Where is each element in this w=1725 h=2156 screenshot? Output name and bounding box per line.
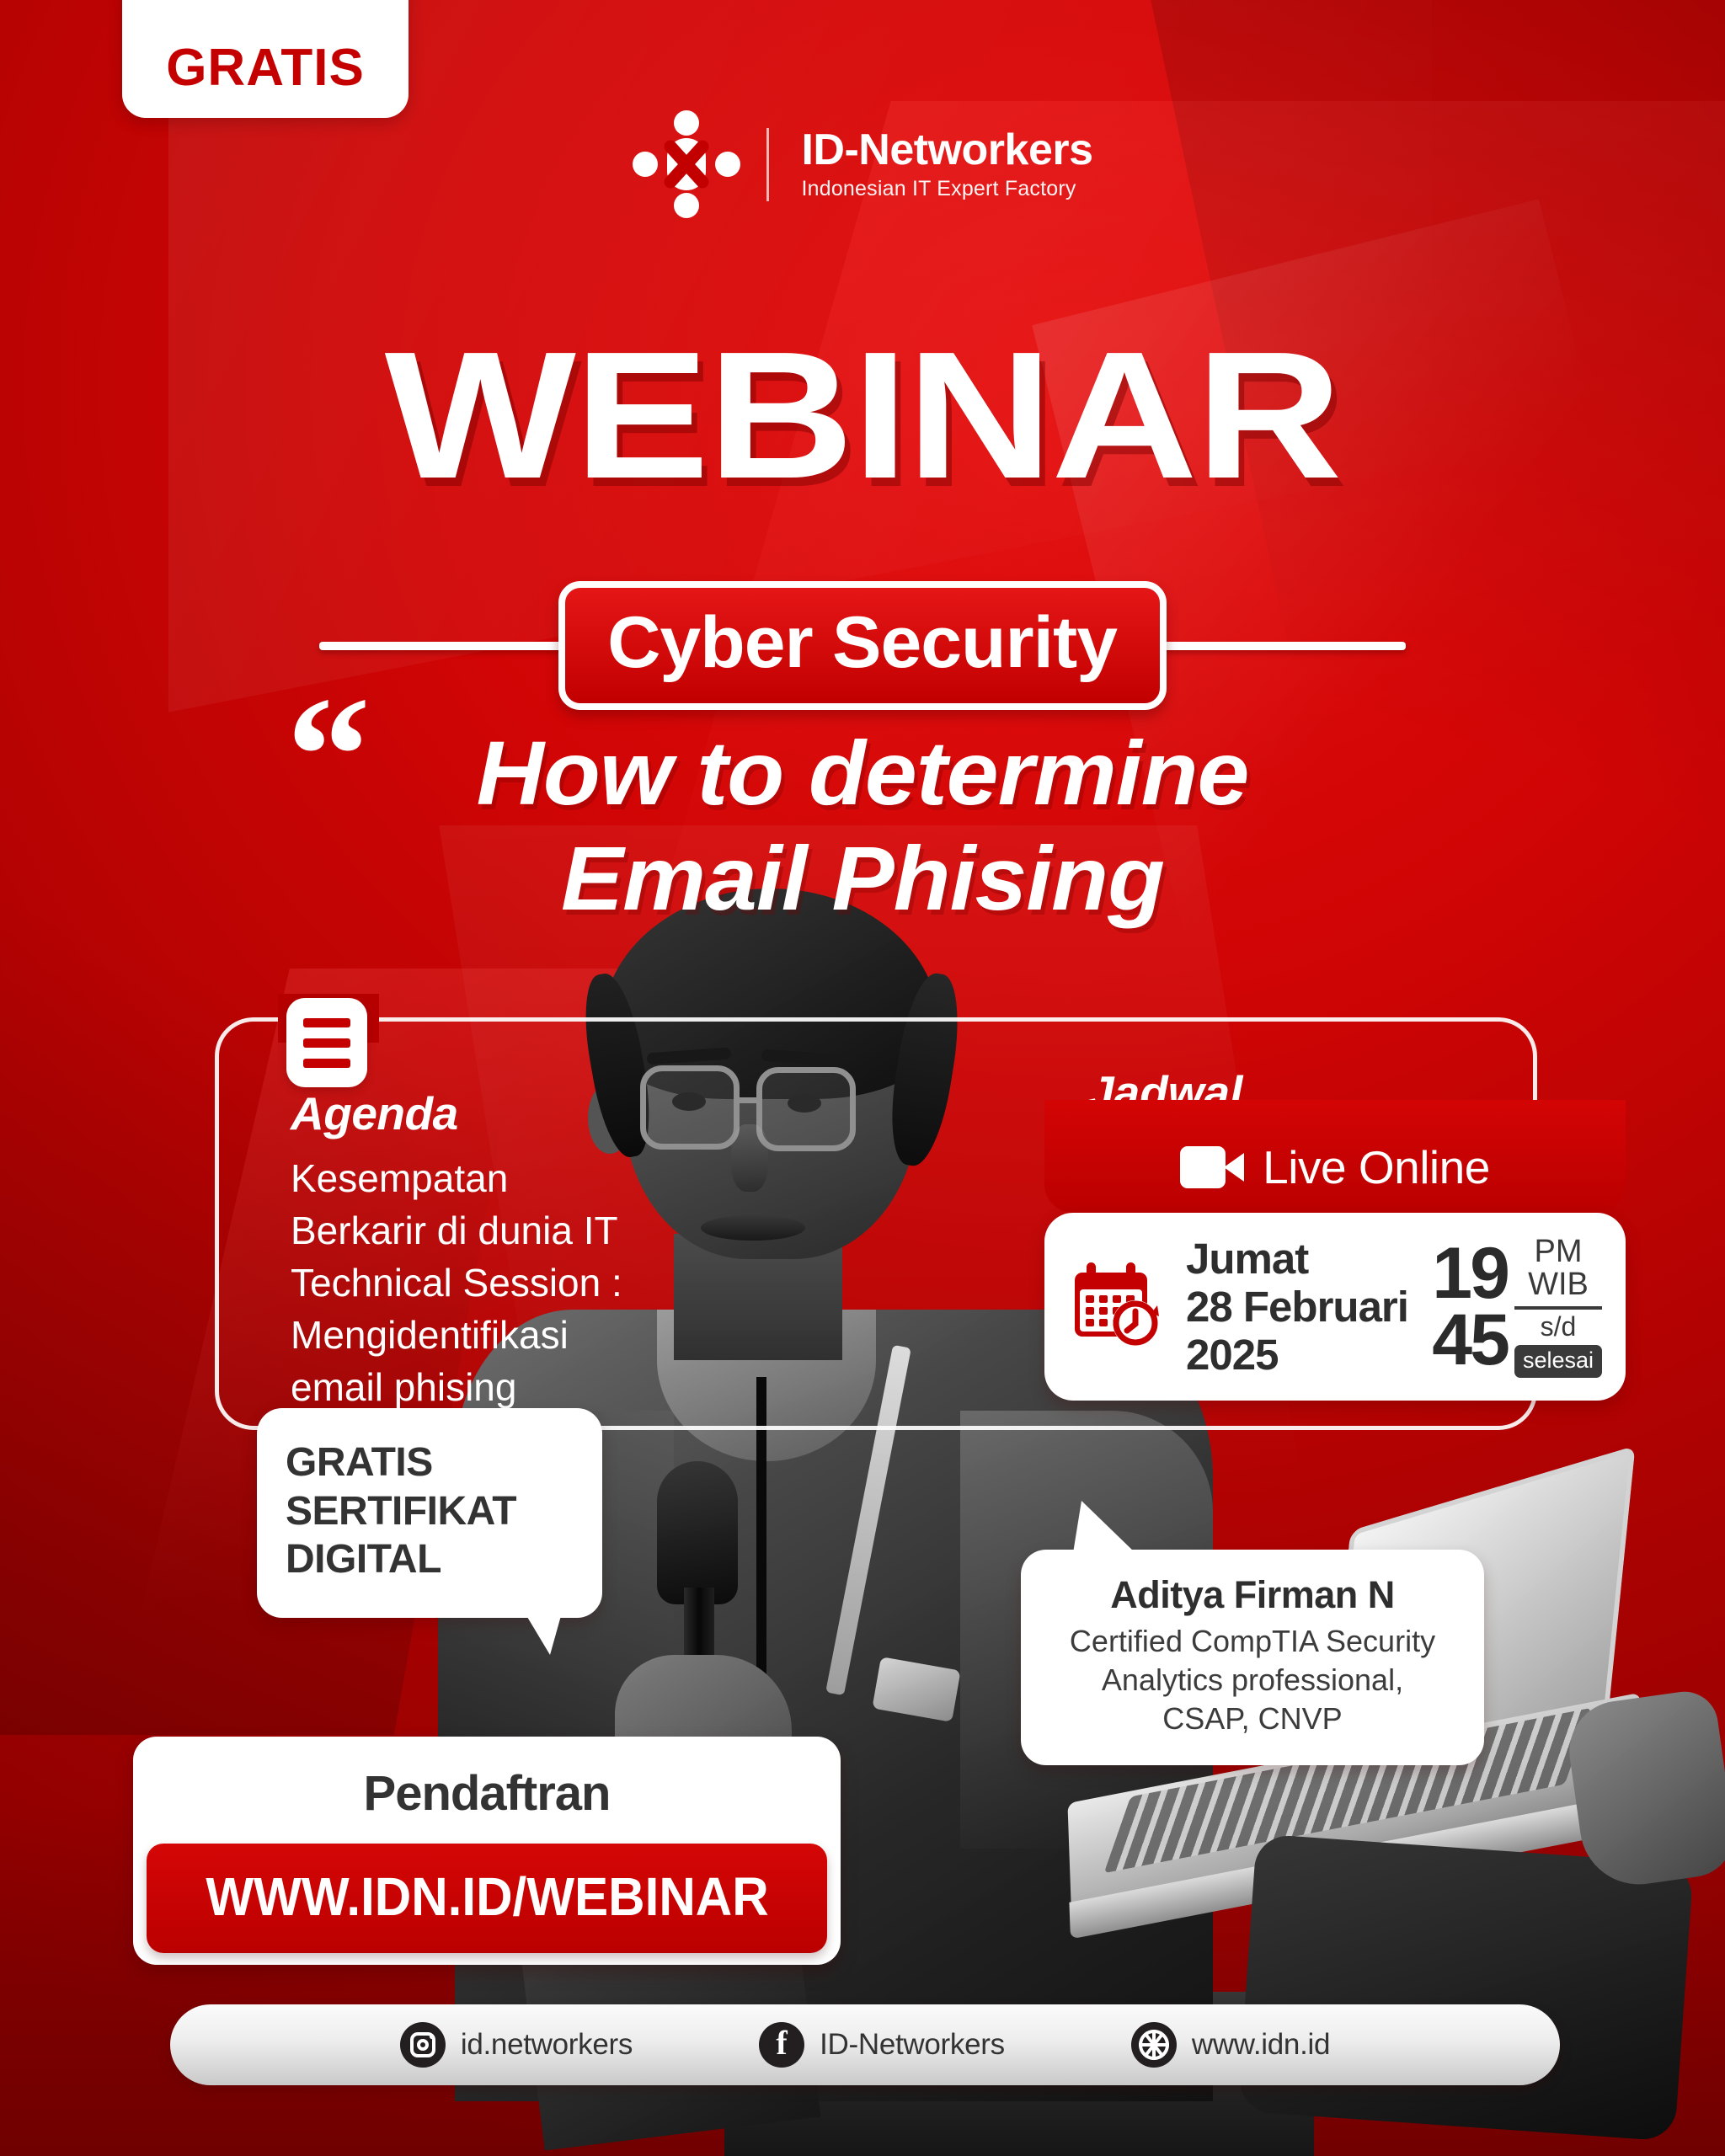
gratis-badge: GRATIS <box>122 0 409 118</box>
category-badge: Cyber Security <box>558 581 1166 710</box>
schedule-until-label: s/d <box>1514 1313 1602 1342</box>
live-mode-label: Live Online <box>1263 1140 1490 1194</box>
subtitle-line-2: Email Phising <box>0 825 1725 931</box>
schedule-timezone: WIB <box>1514 1268 1602 1301</box>
agenda-line-1: Kesempatan <box>291 1152 729 1204</box>
live-mode-band: Live Online <box>1044 1100 1626 1213</box>
schedule-block: Live Online <box>1044 1129 1626 1372</box>
rule-right <box>1162 642 1406 650</box>
schedule-until-value: selesai <box>1514 1345 1602 1378</box>
category-label: Cyber Security <box>608 601 1118 685</box>
bubble-tail <box>1073 1501 1135 1553</box>
speaker-role-3: CSAP, CNVP <box>1046 1700 1459 1738</box>
speaker-name: Aditya Firman N <box>1046 1573 1459 1617</box>
bubble-tail <box>525 1613 562 1655</box>
registration-url-button[interactable]: WWW.IDN.ID/WEBINAR <box>147 1844 827 1953</box>
registration-card: Pendaftran WWW.IDN.ID/WEBINAR <box>133 1737 841 1965</box>
schedule-meridiem: PM <box>1514 1235 1602 1268</box>
agenda-line-2: Berkarir di dunia IT <box>291 1204 729 1257</box>
social-footer: id.networkers f ID-Networkers www.idn.id <box>170 2004 1560 2085</box>
schedule-date: Jumat 28 Februari 2025 <box>1186 1235 1413 1379</box>
facebook-handle: ID-Networkers <box>820 2028 1005 2062</box>
schedule-year: 2025 <box>1186 1331 1413 1379</box>
certificate-bubble: GRATIS SERTIFIKAT DIGITAL <box>257 1408 602 1618</box>
schedule-day: Jumat <box>1186 1235 1413 1283</box>
schedule-date-value: 28 Februari <box>1186 1283 1413 1331</box>
social-item-website[interactable]: www.idn.id <box>1131 2022 1330 2068</box>
subtitle-line-1: How to determine <box>0 720 1725 825</box>
video-camera-icon <box>1180 1146 1244 1188</box>
agenda-line-3: Technical Session : <box>291 1257 729 1309</box>
certificate-line-3: DIGITAL <box>286 1535 574 1584</box>
social-item-instagram[interactable]: id.networkers <box>400 2022 633 2068</box>
facebook-icon: f <box>759 2022 804 2068</box>
schedule-divider <box>1514 1306 1602 1310</box>
quote-mark-icon: “ <box>286 706 371 807</box>
schedule-minute: 45 <box>1432 1307 1508 1374</box>
speaker-role-1: Certified CompTIA Security <box>1046 1622 1459 1661</box>
page-title: WEBINAR <box>0 324 1725 505</box>
agenda-body: Kesempatan Berkarir di dunia IT Technica… <box>291 1152 729 1413</box>
speaker-bubble: Aditya Firman N Certified CompTIA Securi… <box>1021 1550 1484 1765</box>
certificate-line-1: GRATIS <box>286 1438 574 1487</box>
brand-tagline: Indonesian IT Expert Factory <box>801 177 1092 201</box>
speaker-role-2: Analytics professional, <box>1046 1661 1459 1700</box>
category-row: Cyber Security <box>0 581 1725 710</box>
certificate-line-2: SERTIFIKAT <box>286 1487 574 1536</box>
agenda-title: Agenda <box>291 1086 729 1140</box>
agenda-section: Agenda Kesempatan Berkarir di dunia IT T… <box>291 1086 729 1413</box>
rule-left <box>319 642 563 650</box>
registration-url: WWW.IDN.ID/WEBINAR <box>206 1865 768 1928</box>
schedule-time-meta: PM WIB s/d selesai <box>1514 1235 1602 1378</box>
gratis-badge-label: GRATIS <box>166 38 365 98</box>
webinar-poster: GRATIS ID-Networkers Indonesian IT Exper… <box>0 0 1725 2156</box>
instagram-icon <box>400 2022 446 2068</box>
calendar-clock-icon <box>1068 1261 1167 1353</box>
agenda-line-4: Mengidentifikasi <box>291 1309 729 1361</box>
idn-x-logo-icon <box>632 109 741 219</box>
agenda-line-5: email phising <box>291 1361 729 1413</box>
brand-name: ID-Networkers <box>801 128 1092 172</box>
brand-logo: ID-Networkers Indonesian IT Expert Facto… <box>0 109 1725 219</box>
list-menu-icon <box>286 998 367 1087</box>
webinar-subtitle: How to determine Email Phising <box>0 720 1725 931</box>
website-handle: www.idn.id <box>1192 2028 1330 2062</box>
social-item-facebook[interactable]: f ID-Networkers <box>759 2022 1005 2068</box>
schedule-hour: 19 <box>1432 1241 1508 1307</box>
schedule-card: Jumat 28 Februari 2025 19 45 PM WIB s/d … <box>1044 1213 1626 1401</box>
brand-logo-text: ID-Networkers Indonesian IT Expert Facto… <box>766 128 1092 201</box>
registration-label: Pendaftran <box>147 1752 827 1844</box>
globe-icon <box>1131 2022 1177 2068</box>
schedule-time: 19 45 PM WIB s/d selesai <box>1432 1235 1602 1378</box>
instagram-handle: id.networkers <box>461 2028 633 2062</box>
